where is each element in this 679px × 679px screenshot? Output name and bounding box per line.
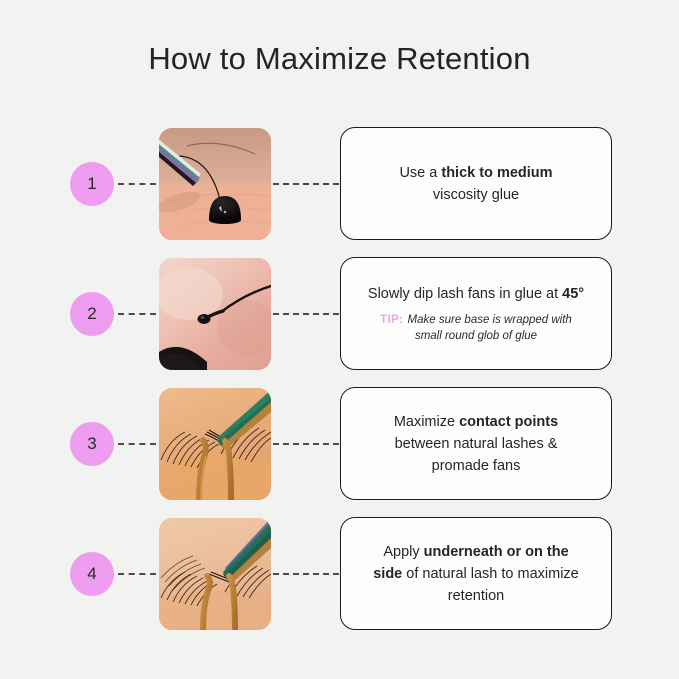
- step-text-line: retention: [448, 585, 504, 607]
- text-emphasis: underneath or on the: [424, 544, 569, 560]
- step-number-label: 1: [87, 174, 96, 194]
- connector-left-2: [118, 313, 156, 315]
- step-number-badge-2: 2: [70, 292, 114, 336]
- connector-left-1: [118, 183, 156, 185]
- step-text-line: Use a thick to medium: [399, 162, 552, 184]
- step-photo-3: [159, 388, 271, 500]
- step-row-3: 3: [0, 387, 679, 501]
- tip-text-line-1: Make sure base is wrapped with: [408, 314, 572, 326]
- step-photo-1: [159, 128, 271, 240]
- text-fragment: viscosity glue: [433, 187, 519, 203]
- step-number-badge-3: 3: [70, 422, 114, 466]
- page-title: How to Maximize Retention: [0, 41, 679, 77]
- step-row-1: 1: [0, 127, 679, 241]
- text-fragment: Maximize: [394, 414, 459, 430]
- text-fragment: Use a: [399, 165, 441, 181]
- text-emphasis: 45°: [562, 286, 584, 302]
- infographic-page: How to Maximize Retention 1: [0, 0, 679, 679]
- step-row-2: 2: [0, 257, 679, 371]
- connector-right-2: [273, 313, 339, 315]
- photo-contact-points-illustration: [159, 388, 271, 500]
- step-text-line: Slowly dip lash fans in glue at 45°: [368, 283, 584, 305]
- text-fragment: of natural lash to maximize: [402, 566, 579, 582]
- tip-label: TIP:: [380, 314, 403, 326]
- step-card-1: Use a thick to medium viscosity glue: [340, 127, 612, 240]
- text-emphasis: side: [373, 566, 402, 582]
- photo-glue-drop-illustration: [159, 128, 271, 240]
- connector-right-3: [273, 443, 339, 445]
- text-emphasis: thick to medium: [441, 165, 552, 181]
- tip-text-line-2: small round glob of glue: [380, 328, 572, 344]
- step-number-label: 2: [87, 304, 96, 324]
- text-fragment: Apply: [383, 544, 423, 560]
- step-text-line: Apply underneath or on the: [383, 541, 568, 563]
- step-text-line: viscosity glue: [433, 184, 519, 206]
- connector-right-1: [273, 183, 339, 185]
- step-card-3: Maximize contact points between natural …: [340, 387, 612, 500]
- tip-block: TIP: Make sure base is wrapped with smal…: [380, 310, 572, 344]
- step-number-label: 4: [87, 564, 96, 584]
- step-text-line: between natural lashes &: [395, 433, 558, 455]
- step-number-label: 3: [87, 434, 96, 454]
- photo-lash-dip-illustration: [159, 258, 271, 370]
- step-text-line: Maximize contact points: [394, 411, 558, 433]
- text-fragment: Slowly dip lash fans in glue at: [368, 286, 562, 302]
- step-text-line: promade fans: [432, 455, 521, 477]
- step-card-2: Slowly dip lash fans in glue at 45° TIP:…: [340, 257, 612, 370]
- connector-left-3: [118, 443, 156, 445]
- step-photo-2: [159, 258, 271, 370]
- connector-right-4: [273, 573, 339, 575]
- step-text-line: side of natural lash to maximize: [373, 563, 579, 585]
- step-photo-4: [159, 518, 271, 630]
- text-emphasis: contact points: [459, 414, 558, 430]
- step-row-4: 4: [0, 517, 679, 631]
- photo-underneath-placement-illustration: [159, 518, 271, 630]
- connector-left-4: [118, 573, 156, 575]
- step-number-badge-4: 4: [70, 552, 114, 596]
- step-card-4: Apply underneath or on the side of natur…: [340, 517, 612, 630]
- step-number-badge-1: 1: [70, 162, 114, 206]
